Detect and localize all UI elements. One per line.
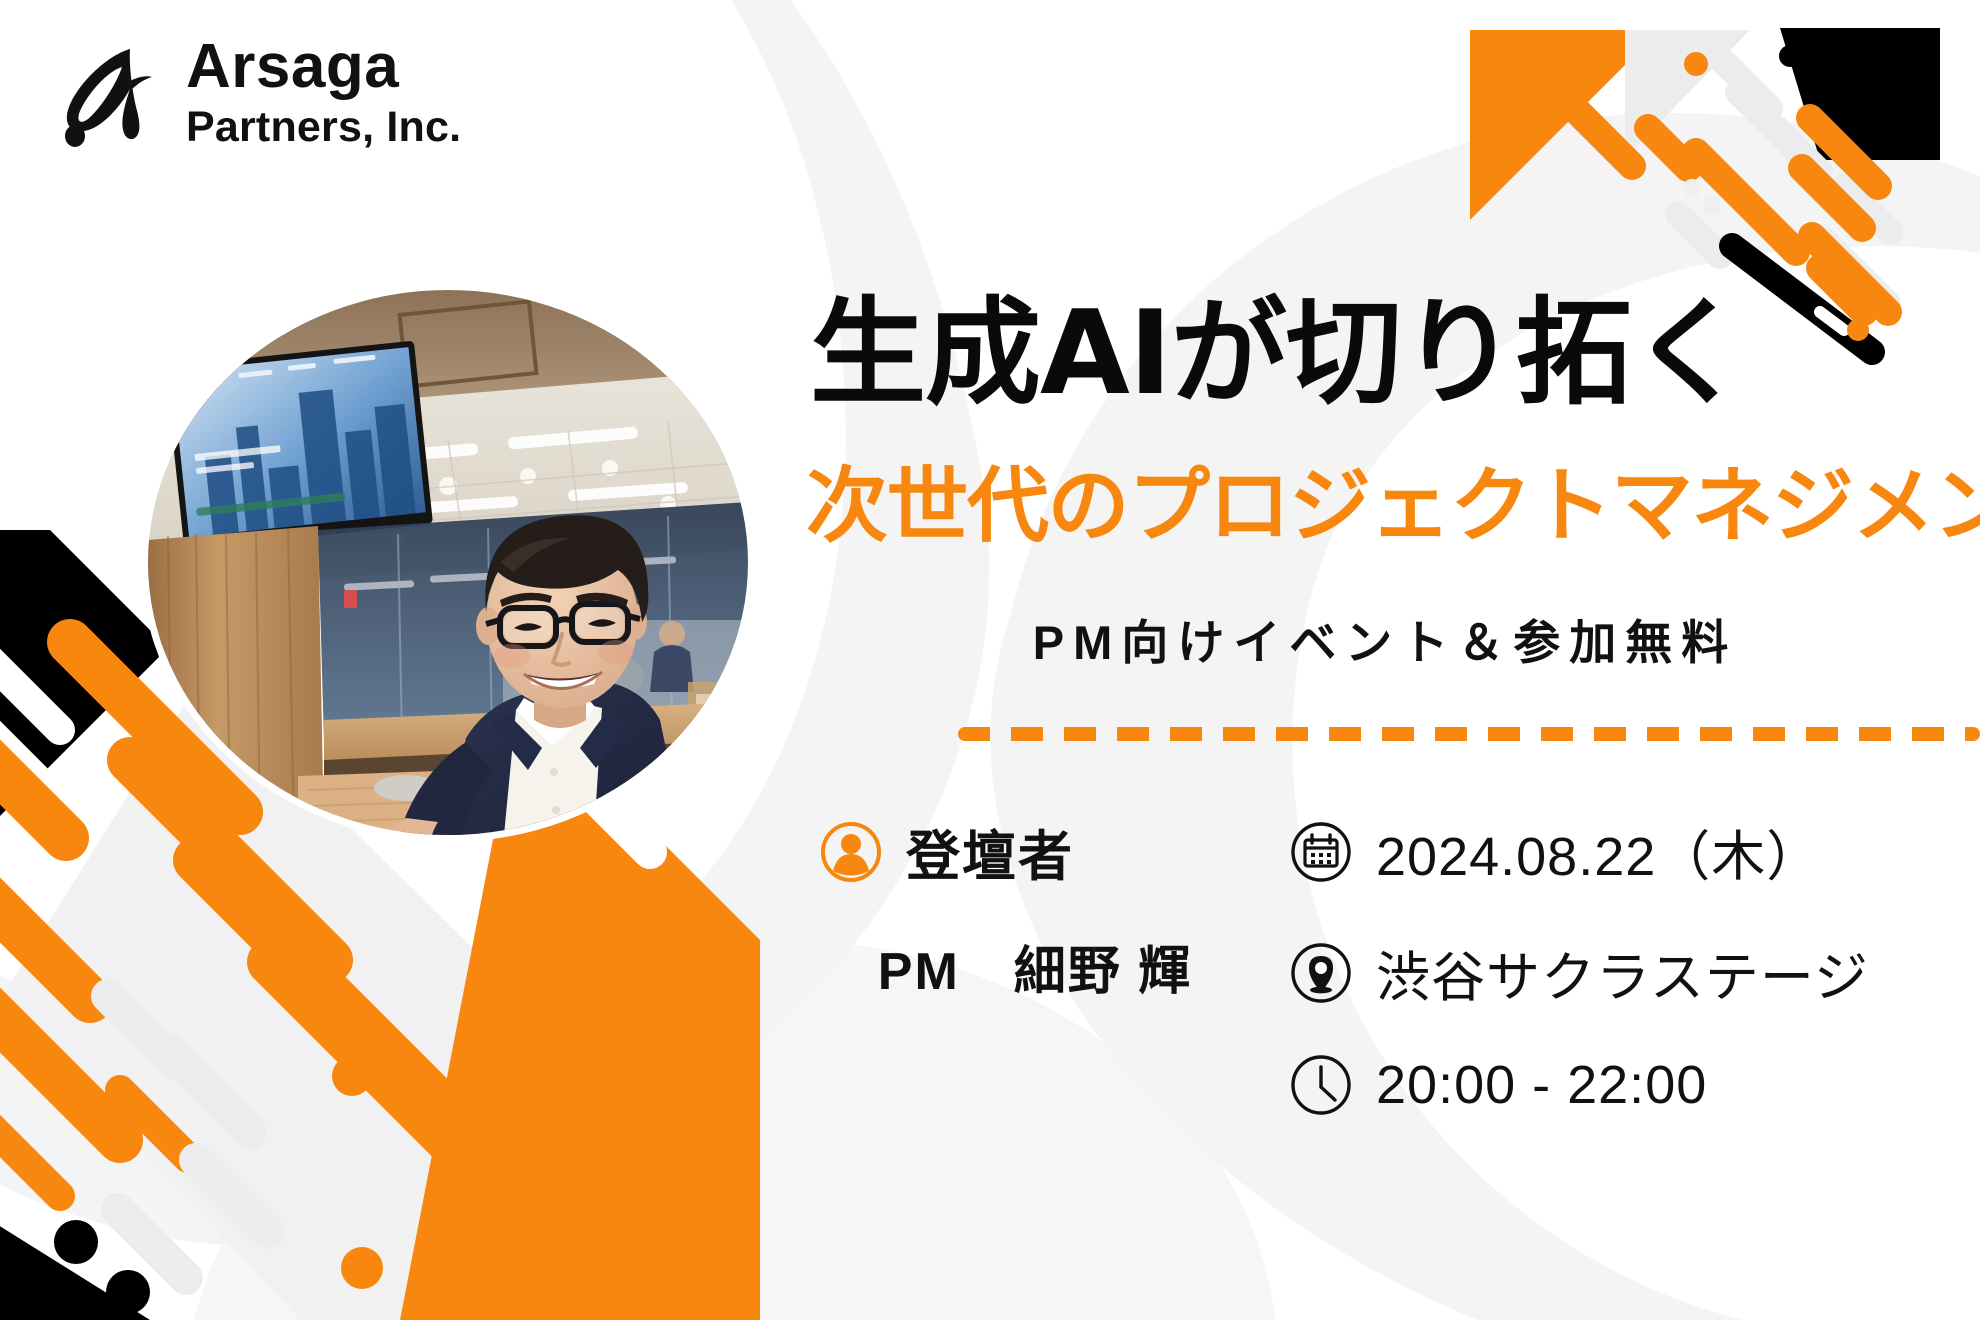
brand-logo-text: Arsaga Partners, Inc. [186,36,461,149]
event-time-row: 20:00 - 22:00 [1290,1054,1980,1116]
headline-main: 生成AIが切り拓く [810,296,1746,412]
deco-dot-black [106,1270,150,1314]
brand-name-line1: Arsaga [186,36,461,98]
event-date-row: 2024.08.22（木） [1290,812,1980,891]
tagline: PM向けイベント＆参加無料 [790,604,1980,673]
event-venue-row: 渋谷サクラステージ [1290,933,1980,1012]
event-meta-list: 2024.08.22（木） 渋谷サクラステージ [1290,812,1980,1116]
speaker-block: 登壇者 PM 細野 輝 [800,812,1270,1004]
speaker-portrait-image [148,290,748,835]
speaker-section-label: 登壇者 [906,812,1074,891]
clock-icon [1290,1054,1352,1116]
brand-logo: Arsaga Partners, Inc. [56,36,461,149]
speaker-heading: 登壇者 [800,812,1270,891]
speaker-portrait [148,290,748,835]
event-date: 2024.08.22（木） [1376,812,1821,891]
dashed-divider [958,727,1980,741]
poster-content: 生成AIが切り拓く 次世代のプロジェクトマネジメント PM向けイベント＆参加無料… [790,0,1980,1320]
deco-dot-black [54,1220,98,1264]
deco-dot-orange [332,1056,372,1096]
event-poster: Arsaga Partners, Inc. [0,0,1980,1320]
speaker-name: PM 細野 輝 [800,929,1270,1004]
location-pin-icon [1290,942,1352,1004]
calendar-icon [1290,821,1352,883]
headline-sub: 次世代のプロジェクトマネジメント [806,466,1980,548]
event-time: 20:00 - 22:00 [1376,1054,1707,1116]
event-venue: 渋谷サクラステージ [1376,933,1869,1012]
person-icon [820,821,882,883]
deco-dot-orange [341,1247,383,1289]
brand-name-line2: Partners, Inc. [186,106,461,149]
event-details: 登壇者 PM 細野 輝 [790,812,1980,1212]
arsaga-a-mark-icon [56,37,164,149]
